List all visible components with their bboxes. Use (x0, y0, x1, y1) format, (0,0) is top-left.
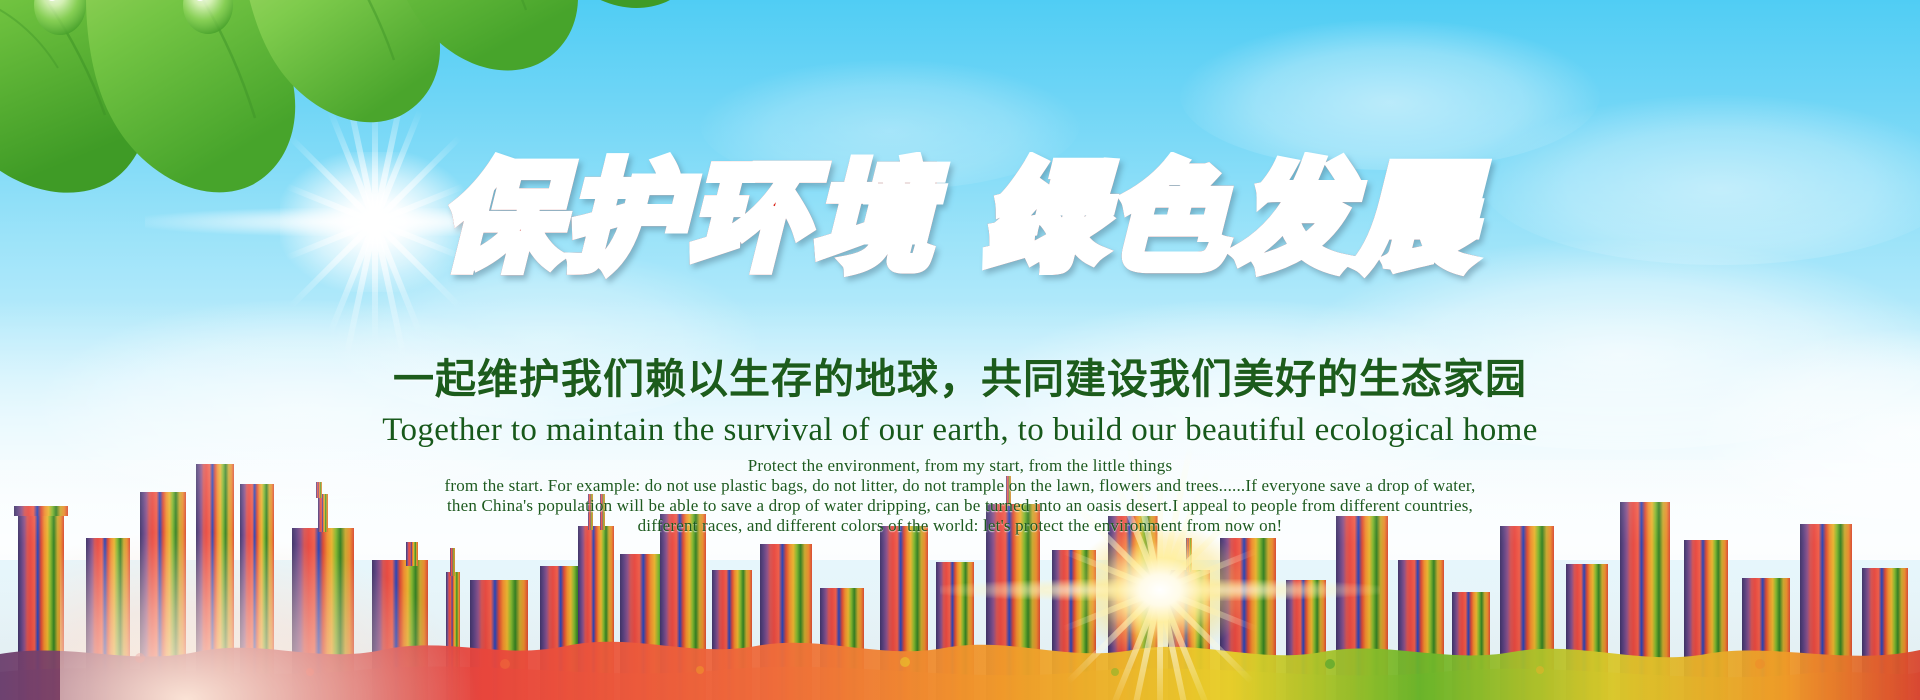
headline-part-1: 保护环境 (441, 160, 937, 280)
body-paragraph: Protect the environment, from my start, … (0, 456, 1920, 536)
paragraph-line: Protect the environment, from my start, … (0, 456, 1920, 476)
environment-banner: 保护环境绿色发展 一起维护我们赖以生存的地球，共同建设我们美好的生态家园 Tog… (0, 0, 1920, 700)
subtitle-chinese: 一起维护我们赖以生存的地球，共同建设我们美好的生态家园 (0, 355, 1920, 403)
page-title: 保护环境绿色发展 (0, 160, 1920, 280)
banner-content: 保护环境绿色发展 一起维护我们赖以生存的地球，共同建设我们美好的生态家园 Tog… (0, 0, 1920, 700)
paragraph-line: then China's population will be able to … (0, 496, 1920, 516)
headline-part-2: 绿色发展 (983, 160, 1479, 280)
paragraph-line: from the start. For example: do not use … (0, 476, 1920, 496)
paragraph-line: different races, and different colors of… (0, 516, 1920, 536)
subtitle-english: Together to maintain the survival of our… (0, 410, 1920, 450)
